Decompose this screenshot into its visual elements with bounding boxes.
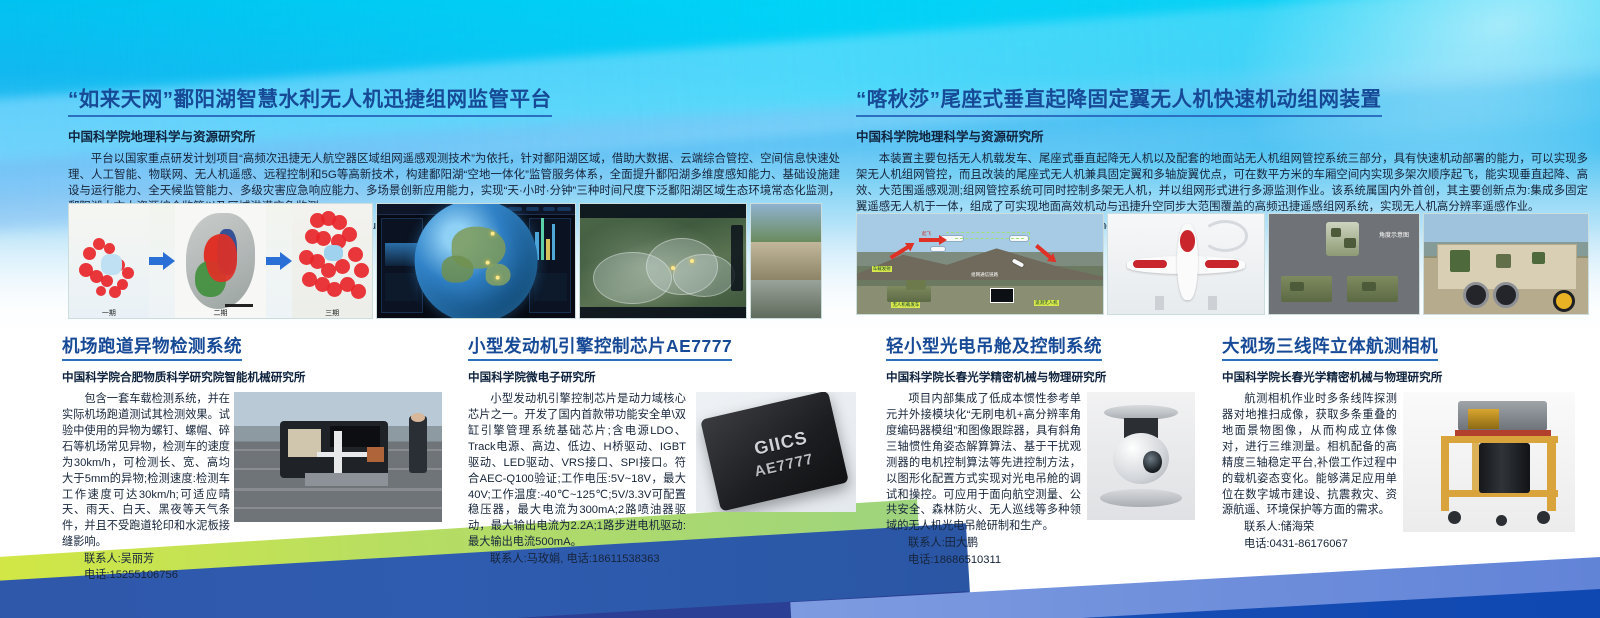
card-organization: 中国科学院长春光学精密机械与物理研究所 (1222, 369, 1582, 385)
thumbnail-caption: 三期 (292, 308, 372, 318)
thumbnail-caption: 二期 (175, 308, 267, 318)
card-description: 项目内部集成了低成本惯性参考单元并外接模块化“无刷电机+高分辨率角度编码器模组”… (886, 392, 1081, 535)
card-organization: 中国科学院合肥物质科学研究院智能机械研究所 (62, 369, 442, 385)
card-title: 大视场三线阵立体航测相机 (1222, 336, 1438, 361)
poster-canvas: “如来天网”鄱阳湖智慧水利无人机迅捷组网监管平台 中国科学院地理科学与资源研究所… (0, 0, 1600, 618)
card-contact-name: 联系人:储海荣 (1222, 519, 1397, 535)
card-title: 小型发动机引擎控制芯片AE7777 (468, 336, 732, 361)
scene-label: 角度示意图 (1378, 230, 1410, 239)
panel-description: 本装置主要包括无人机载发车、尾座式垂直起降无人机以及配套的地面站无人机组网管控系… (856, 151, 1588, 216)
card-photo-pickup-truck-detection-rig (234, 392, 442, 522)
card-runway-fod: 机场跑道异物检测系统 中国科学院合肥物质科学研究院智能机械研究所 包含一套车载检… (62, 336, 442, 584)
scene-label: 遥测无人机 (1034, 300, 1059, 306)
card-contact-phone: 电话:15255106756 (62, 567, 230, 583)
card-contact-name: 联系人:吴丽芳 (62, 551, 230, 567)
card-description: 包含一套车载检测系统，并在实际机场跑道测试其检测效果。试验中使用的异物为螺钉、螺… (62, 392, 230, 551)
scene-label: 车载发射 (872, 266, 892, 272)
card-contact-phone: 电话:0431-86176067 (1222, 536, 1397, 552)
panel-organization: 中国科学院地理科学与资源研究所 (856, 126, 1588, 145)
arrow-right-icon (266, 252, 292, 270)
card-contact-name: 联系人:马玫娟, 电话:18611538363 (468, 551, 686, 567)
thumbnail-vehicle-3d-layout: 角度示意图 (1268, 213, 1420, 315)
panel-organization: 中国科学院地理科学与资源研究所 (68, 126, 840, 145)
card-photo-qfn-chip: GIICS AE7777 (696, 392, 856, 512)
thumbnail-ground-station-trailer (1423, 213, 1589, 315)
thumbnail-field-photo-strip (750, 203, 822, 319)
card-photo-gimbal (1087, 392, 1195, 520)
card-photo-camera-on-cart (1403, 392, 1575, 532)
card-contact-phone: 电话:18686510311 (886, 552, 1081, 568)
card-tri-line-camera: 大视场三线阵立体航测相机 中国科学院长春光学精密机械与物理研究所 航测相机作业时… (1222, 336, 1582, 552)
card-contact-name: 联系人:田大鹏 (886, 535, 1081, 551)
card-eo-gimbal: 轻小型光电吊舱及控制系统 中国科学院长春光学精密机械与物理研究所 项目内部集成了… (886, 336, 1216, 568)
thumbnail-desert-networking-scene: 无人机载发车 车载发射 遥测无人机 起飞 组网通信链路 (856, 213, 1104, 315)
thumbnail-tailsitter-uav-render (1107, 213, 1265, 315)
card-description: 航测相机作业时多条线阵探测器对地推扫成像，获取多条重叠的地面景物图像，从而构成立… (1222, 392, 1397, 519)
card-organization: 中国科学院长春光学精密机械与物理研究所 (886, 369, 1216, 385)
thumbnail-aerial-coverage-dashboard (579, 203, 747, 319)
scene-label: 起飞 (921, 231, 932, 237)
panel-title: “喀秋莎”尾座式垂直起降固定翼无人机快速机动组网装置 (856, 88, 1382, 117)
scene-label: 组网通信链路 (970, 272, 999, 278)
thumbnail-globe-dashboard (376, 203, 576, 319)
card-organization: 中国科学院微电子研究所 (468, 369, 860, 385)
panel-title: “如来天网”鄱阳湖智慧水利无人机迅捷组网监管平台 (68, 88, 552, 117)
thumbnail-phase-map-triptych: 一期 二期 (68, 203, 373, 319)
card-title: 轻小型光电吊舱及控制系统 (886, 336, 1102, 361)
card-description: 小型发动机引擎控制芯片是动力域核心芯片之一。开发了国内首款带功能安全单\双缸引擎… (468, 392, 686, 551)
arrow-right-icon (149, 252, 175, 270)
card-title: 机场跑道异物检测系统 (62, 336, 242, 361)
scene-label: 无人机载发车 (891, 302, 920, 308)
card-ae7777-chip: 小型发动机引擎控制芯片AE7777 中国科学院微电子研究所 小型发动机引擎控制芯… (468, 336, 860, 567)
thumbnail-strip-left: 一期 二期 (68, 203, 818, 320)
thumbnail-caption: 一期 (69, 308, 149, 318)
thumbnail-strip-right: 无人机载发车 车载发射 遥测无人机 起飞 组网通信链路 (856, 213, 1588, 316)
